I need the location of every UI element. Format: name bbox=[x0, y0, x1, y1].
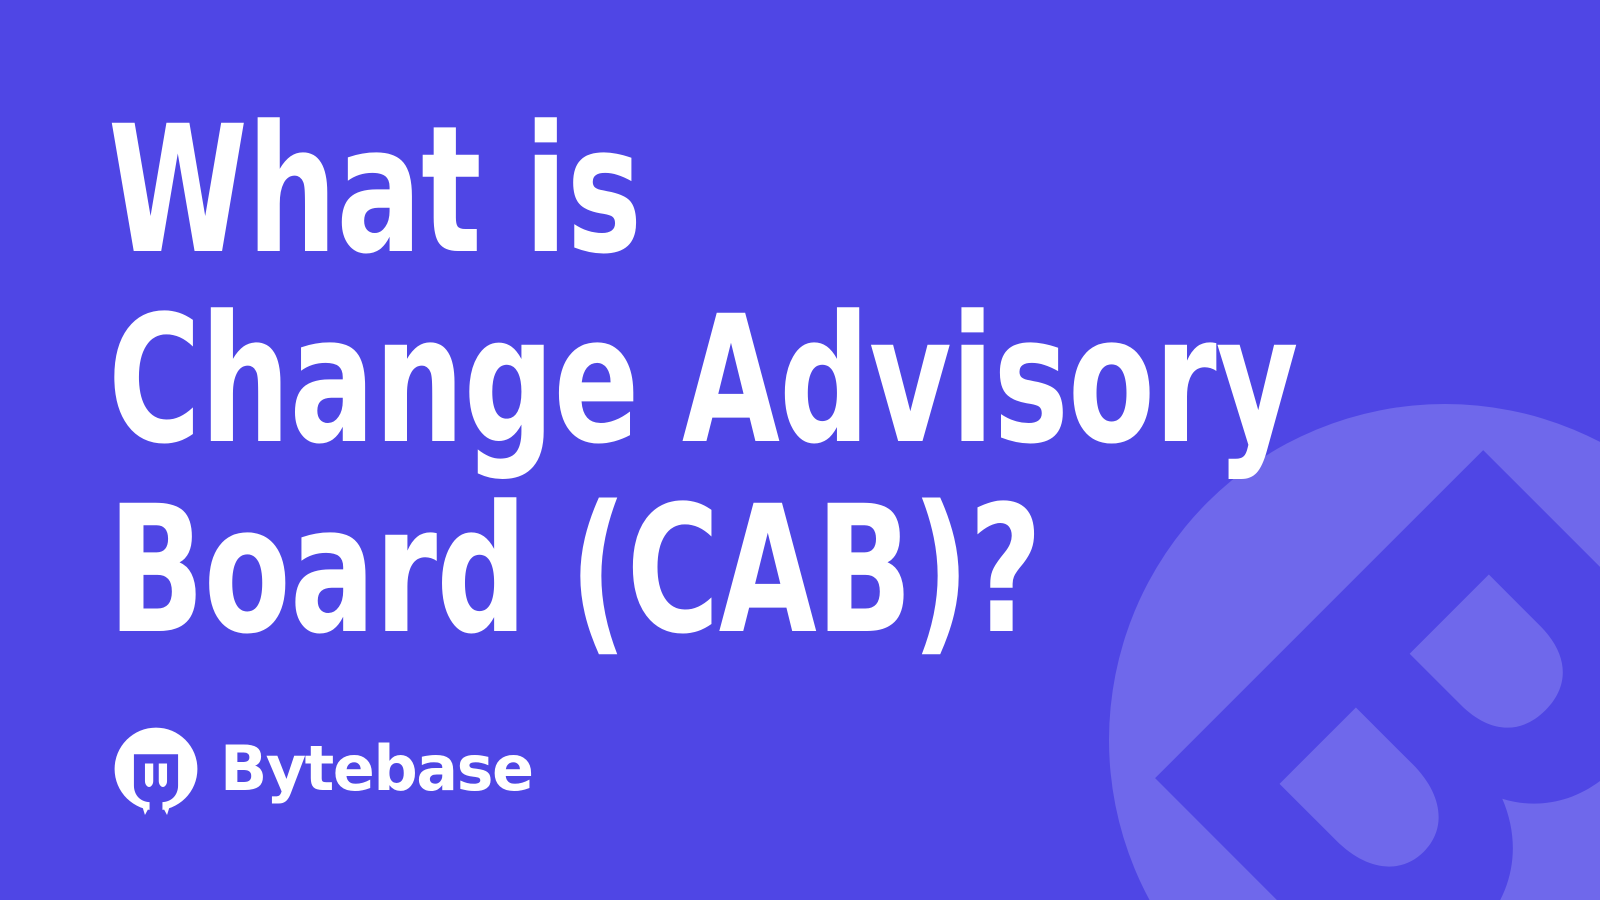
headline-line-1: What is bbox=[108, 96, 1298, 286]
headline-line-3: Board (CAB)? bbox=[108, 476, 1298, 666]
brand-lockup: Bytebase bbox=[110, 723, 533, 815]
cover-canvas: What is Change Advisory Board (CAB)? bbox=[0, 0, 1600, 900]
headline-line-2: Change Advisory bbox=[108, 286, 1298, 476]
bytebase-logo-icon bbox=[110, 723, 202, 815]
bytebase-wordmark: Bytebase bbox=[220, 738, 533, 800]
page-title: What is Change Advisory Board (CAB)? bbox=[108, 96, 1298, 666]
